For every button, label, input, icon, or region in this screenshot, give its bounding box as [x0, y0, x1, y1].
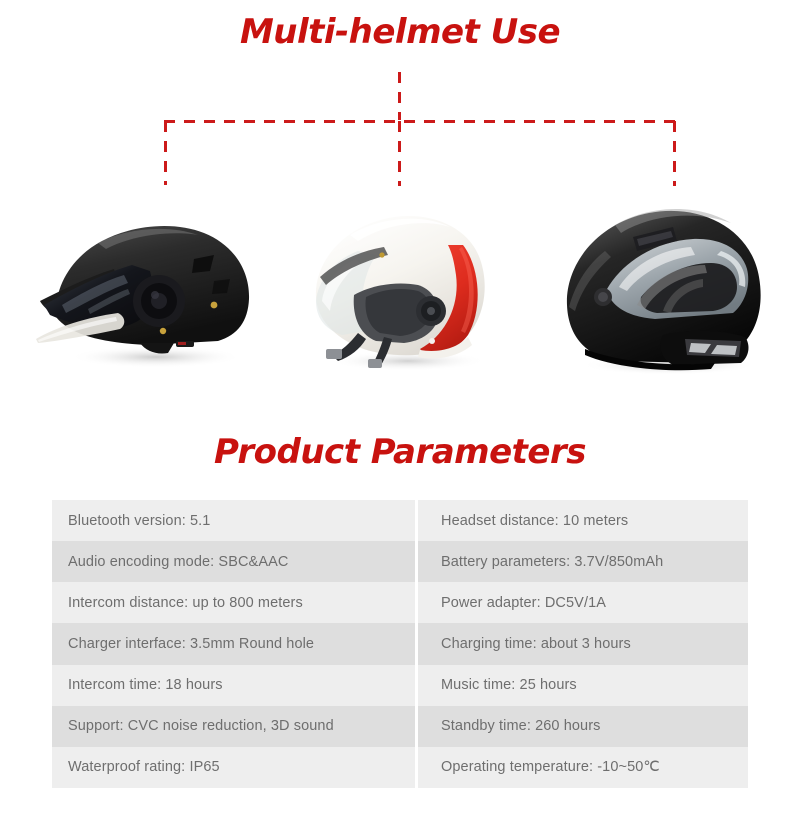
- helmet-image-black-full-face: [545, 185, 795, 380]
- dashed-bracket-connector: [0, 0, 800, 200]
- param-cell-right: Standby time: 260 hours: [418, 706, 748, 747]
- helmet-image-white-red-open-face: [280, 185, 530, 380]
- param-cell-left: Intercom distance: up to 800 meters: [52, 582, 415, 623]
- page-title-product-parameters: Product Parameters: [0, 432, 800, 472]
- table-row: Charger interface: 3.5mm Round hole Char…: [52, 623, 748, 664]
- param-cell-right: Power adapter: DC5V/1A: [418, 582, 748, 623]
- param-cell-right: Music time: 25 hours: [418, 665, 748, 706]
- helmet-image-black-half-face: [28, 185, 278, 380]
- table-row: Intercom distance: up to 800 meters Powe…: [52, 582, 748, 623]
- param-cell-right: Operating temperature: -10~50℃: [418, 747, 748, 788]
- black-half-face-helmet-icon: [28, 185, 278, 380]
- param-cell-left: Audio encoding mode: SBC&AAC: [52, 541, 415, 582]
- param-cell-right: Headset distance: 10 meters: [418, 500, 748, 541]
- table-row: Bluetooth version: 5.1 Headset distance:…: [52, 500, 748, 541]
- param-cell-left: Bluetooth version: 5.1: [52, 500, 415, 541]
- table-row: Audio encoding mode: SBC&AAC Battery par…: [52, 541, 748, 582]
- multi-helmet-section: Multi-helmet Use: [0, 0, 800, 420]
- param-cell-left: Support: CVC noise reduction, 3D sound: [52, 706, 415, 747]
- table-row: Support: CVC noise reduction, 3D sound S…: [52, 706, 748, 747]
- param-cell-right: Charging time: about 3 hours: [418, 623, 748, 664]
- black-full-face-modular-helmet-icon: [545, 185, 795, 380]
- param-cell-left: Intercom time: 18 hours: [52, 665, 415, 706]
- helmet-image-row: [0, 185, 800, 380]
- product-parameters-table: Bluetooth version: 5.1 Headset distance:…: [52, 500, 748, 788]
- table-row: Waterproof rating: IP65 Operating temper…: [52, 747, 748, 788]
- param-cell-left: Waterproof rating: IP65: [52, 747, 415, 788]
- table-row: Intercom time: 18 hours Music time: 25 h…: [52, 665, 748, 706]
- white-red-open-face-helmet-icon: [280, 185, 530, 380]
- param-cell-right: Battery parameters: 3.7V/850mAh: [418, 541, 748, 582]
- param-cell-left: Charger interface: 3.5mm Round hole: [52, 623, 415, 664]
